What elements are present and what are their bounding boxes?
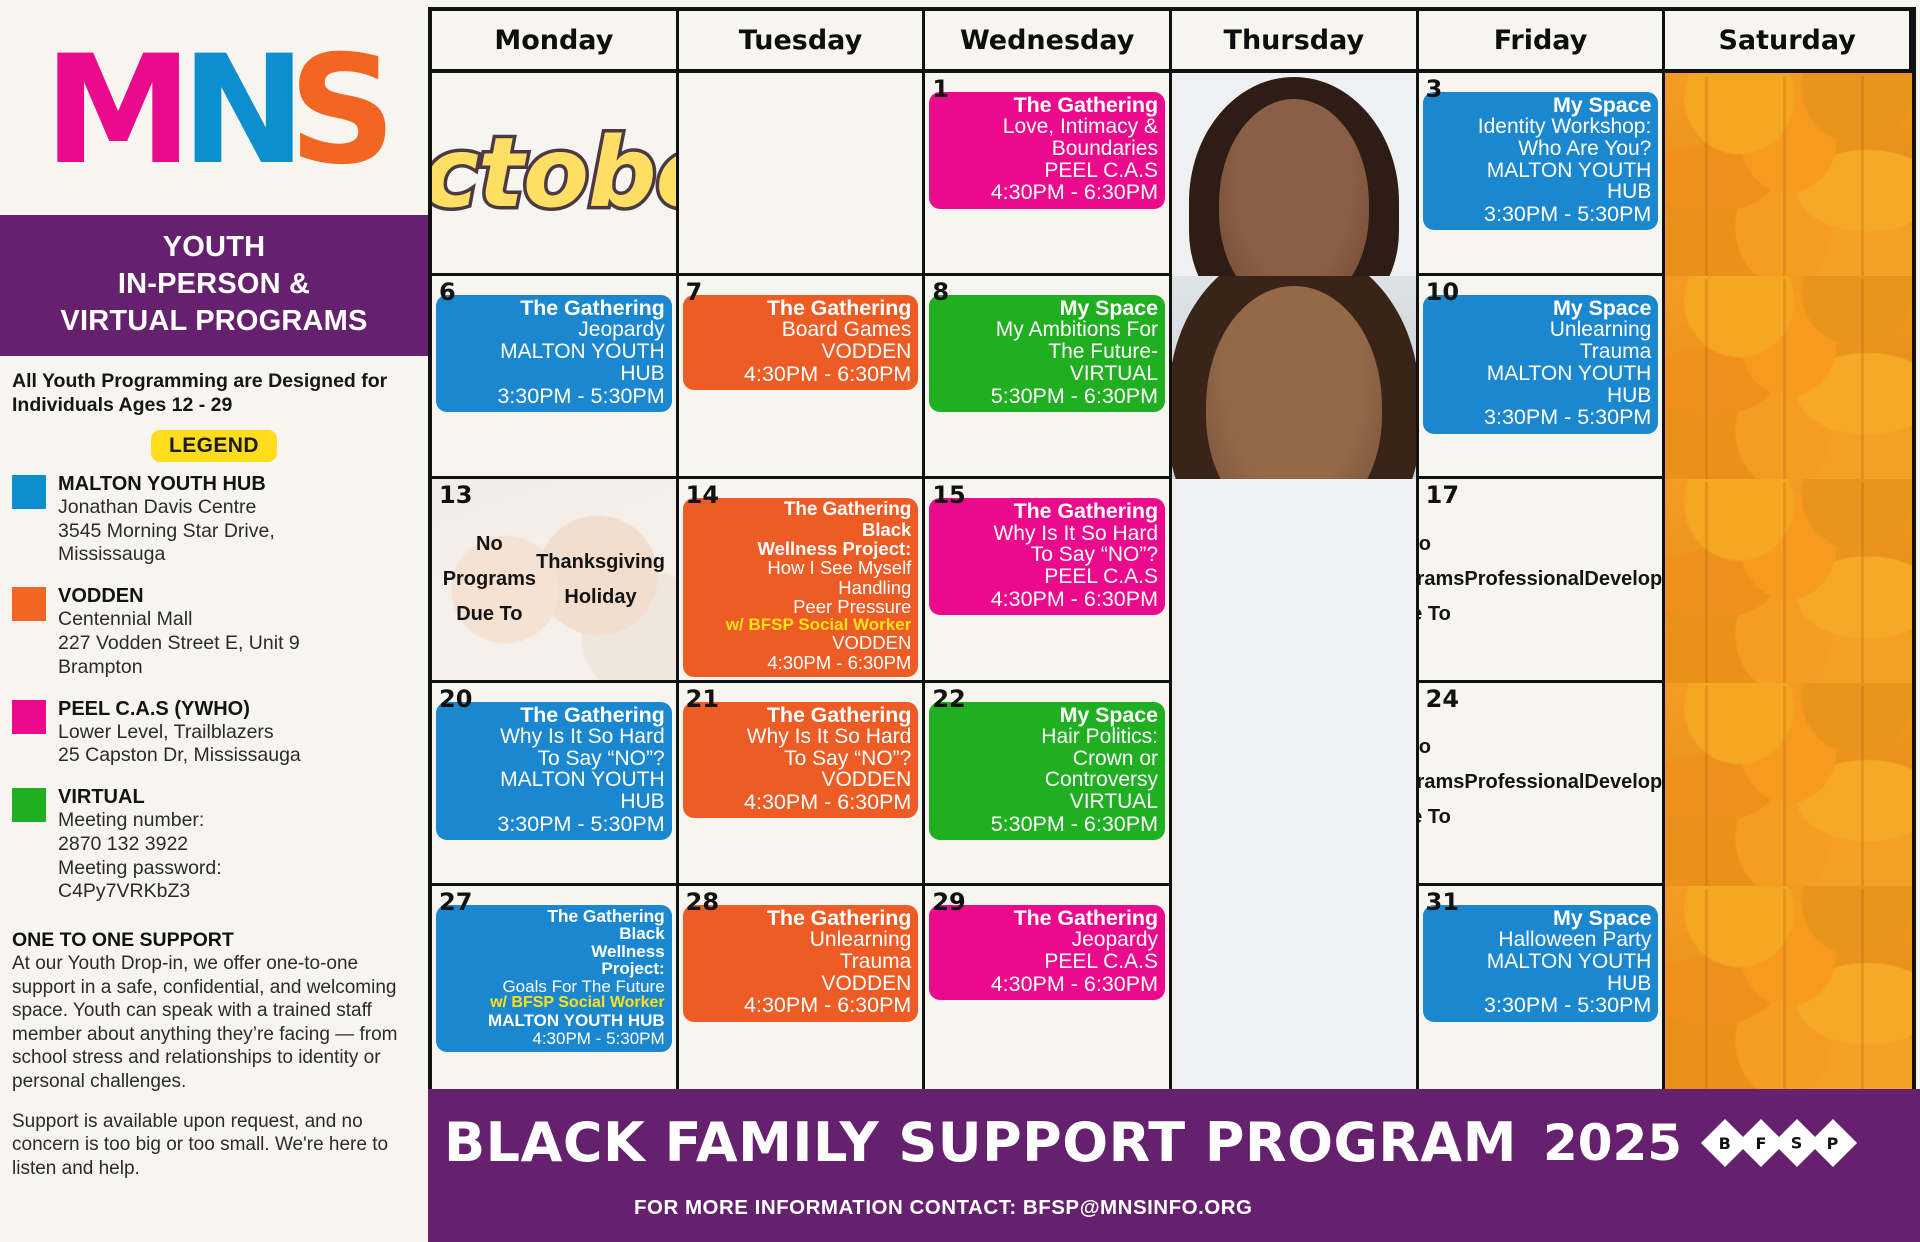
- event-card[interactable]: My SpaceHalloween PartyMALTON YOUTHHUB3:…: [1423, 905, 1659, 1022]
- day-number: 31: [1426, 888, 1459, 916]
- no-programs-line: No Programs Due To: [443, 527, 536, 632]
- pumpkin-rib: [1861, 889, 1864, 1089]
- event-detail-line: Handling: [690, 578, 912, 597]
- event-detail-line: My Ambitions For: [936, 319, 1158, 341]
- bfsp-diamond: P: [1809, 1119, 1857, 1167]
- no-programs-line: Professional: [1464, 562, 1584, 597]
- event-detail-line: MALTON YOUTH: [443, 769, 665, 791]
- event-detail-line: Why Is It So Hard: [690, 726, 912, 748]
- day-header-wednesday: Wednesday: [925, 11, 1172, 73]
- event-card[interactable]: My SpaceIdentity Workshop:Who Are You?MA…: [1423, 92, 1659, 230]
- day-number: 13: [439, 481, 472, 509]
- day-cell-6: 6The GatheringJeopardyMALTON YOUTHHUB3:3…: [432, 276, 679, 479]
- bfsp-diamond-letter: B: [1719, 1133, 1731, 1152]
- one-to-one-paragraph-2: Support is available upon request, and n…: [12, 1110, 416, 1181]
- day-header-label: Tuesday: [739, 25, 862, 56]
- legend-detail-line: Centennial Mall: [58, 608, 300, 632]
- event-card[interactable]: The GatheringLove, Intimacy &BoundariesP…: [929, 92, 1165, 209]
- event-time: 4:30PM - 6:30PM: [936, 973, 1158, 995]
- legend-item: VODDENCentennial Mall227 Vodden Street E…: [12, 584, 416, 679]
- event-time: 3:30PM - 5:30PM: [1430, 994, 1652, 1016]
- event-title: The Gathering: [690, 500, 912, 520]
- no-programs-line: Professional: [1464, 765, 1584, 800]
- day-cell-13: 13No Programs Due ToThanksgiving Holiday: [432, 479, 679, 682]
- event-detail-line: MALTON YOUTH: [443, 341, 665, 363]
- legend-text: PEEL C.A.S (YWHO)Lower Level, Trailblaze…: [58, 697, 301, 769]
- day-cell-20: 20The GatheringWhy Is It So HardTo Say “…: [432, 683, 679, 886]
- event-detail-line: The Future-: [936, 341, 1158, 363]
- pumpkin-rib: [1861, 686, 1864, 886]
- event-time: 3:30PM - 5:30PM: [1430, 203, 1652, 225]
- legend-location-name: VODDEN: [58, 584, 300, 608]
- day-header-thursday: Thursday: [1172, 11, 1419, 73]
- event-detail-line: Who Are You?: [1430, 138, 1652, 160]
- event-detail-line: Unlearning: [690, 929, 912, 951]
- event-title: The Gathering: [443, 297, 665, 319]
- event-detail-line: MALTON YOUTH: [1430, 363, 1652, 385]
- legend-location-name: VIRTUAL: [58, 785, 222, 809]
- one-to-one-paragraph-1: At our Youth Drop-in, we offer one-to-on…: [12, 952, 416, 1093]
- pumpkin-decoration-cell: [1665, 73, 1912, 276]
- day-cell-1: 1The GatheringLove, Intimacy &Boundaries…: [925, 73, 1172, 276]
- event-card[interactable]: The GatheringBoard GamesVODDEN4:30PM - 6…: [683, 295, 919, 390]
- day-number: 28: [686, 888, 719, 916]
- legend-label: LEGEND: [151, 430, 277, 462]
- pumpkin-rib: [1705, 686, 1708, 886]
- event-detail-line: Why Is It So Hard: [936, 523, 1158, 545]
- event-detail-line: PEEL C.A.S: [936, 951, 1158, 973]
- event-detail-line: Hair Politics:: [936, 726, 1158, 748]
- event-time: 4:30PM - 6:30PM: [690, 791, 912, 813]
- no-programs-line: No Programs Due To: [1419, 527, 1465, 632]
- event-location: VODDEN: [690, 633, 912, 652]
- day-number: 14: [686, 481, 719, 509]
- legend-detail-line: 25 Capston Dr, Mississauga: [58, 744, 301, 768]
- pumpkin-rib: [1783, 76, 1786, 276]
- event-time: 5:30PM - 6:30PM: [936, 813, 1158, 835]
- day-cell-10: 10My SpaceUnlearningTraumaMALTON YOUTHHU…: [1419, 276, 1666, 479]
- legend-detail-line: Mississauga: [58, 543, 275, 567]
- event-title: My Space: [1430, 297, 1652, 319]
- event-title: The Gathering: [936, 907, 1158, 929]
- event-detail-line: Jeopardy: [443, 319, 665, 341]
- event-card[interactable]: The GatheringUnlearningTraumaVODDEN4:30P…: [683, 905, 919, 1022]
- pumpkin-rib: [1783, 279, 1786, 479]
- event-highlight-note: w/ BFSP Social Worker: [690, 616, 912, 634]
- event-card[interactable]: The GatheringBlackWellness Project:How I…: [683, 498, 919, 676]
- day-header-label: Saturday: [1718, 25, 1855, 56]
- heading-line-1: YOUTH: [6, 229, 422, 266]
- event-time: 3:30PM - 5:30PM: [1430, 406, 1652, 428]
- event-time: 4:30PM - 5:30PM: [443, 1030, 665, 1048]
- day-header-friday: Friday: [1419, 11, 1666, 73]
- event-detail-line: Goals For The Future: [443, 978, 665, 996]
- day-cell-14: 14The GatheringBlackWellness Project:How…: [679, 479, 926, 682]
- pumpkin-rib: [1861, 76, 1864, 276]
- event-title: The Gathering: [443, 704, 665, 726]
- event-card[interactable]: The GatheringWhy Is It So HardTo Say “NO…: [436, 702, 672, 840]
- program-year: 2025: [1543, 1114, 1682, 1172]
- pumpkin-decoration-cell: [1665, 683, 1912, 886]
- event-detail-line: VODDEN: [690, 769, 912, 791]
- event-detail-line: MALTON YOUTH: [1430, 160, 1652, 182]
- day-number: 24: [1426, 685, 1459, 713]
- event-detail-line: VIRTUAL: [936, 791, 1158, 813]
- sidebar-heading: YOUTH IN-PERSON & VIRTUAL PROGRAMS: [0, 215, 428, 356]
- pumpkin-rib: [1705, 76, 1708, 276]
- legend-detail-line: 3545 Morning Star Drive,: [58, 520, 275, 544]
- event-detail-line: HUB: [443, 363, 665, 385]
- event-detail-line: Controversy: [936, 769, 1158, 791]
- event-title: The Gathering: [443, 907, 665, 925]
- day-cell-28: 28The GatheringUnlearningTraumaVODDEN4:3…: [679, 886, 926, 1089]
- legend-header: LEGEND: [0, 430, 428, 462]
- event-detail-line: Crown or: [936, 748, 1158, 770]
- calendar-poster: MNS YOUTH IN-PERSON & VIRTUAL PROGRAMS A…: [0, 0, 1920, 1242]
- event-detail-line: VODDEN: [690, 973, 912, 995]
- legend-item: PEEL C.A.S (YWHO)Lower Level, Trailblaze…: [12, 697, 416, 769]
- legend-detail-line: Jonathan Davis Centre: [58, 496, 275, 520]
- no-programs-notice: No Programs Due ToProfessionalDevelopmen…: [1423, 482, 1659, 676]
- day-cell-3: 3My SpaceIdentity Workshop:Who Are You?M…: [1419, 73, 1666, 276]
- pumpkin-rib: [1705, 482, 1708, 682]
- event-card[interactable]: My SpaceUnlearningTraumaMALTON YOUTHHUB3…: [1423, 295, 1659, 433]
- legend-text: MALTON YOUTH HUBJonathan Davis Centre354…: [58, 472, 275, 567]
- no-programs-notice: No Programs Due ToProfessionalDevelopmen…: [1423, 686, 1659, 880]
- heading-line-3: VIRTUAL PROGRAMS: [6, 303, 422, 340]
- day-number: 17: [1426, 481, 1459, 509]
- event-title: The Gathering: [936, 94, 1158, 116]
- pumpkin-decoration-cell: [1665, 276, 1912, 479]
- event-title: My Space: [1430, 907, 1652, 929]
- legend-color-swatch: [12, 475, 46, 509]
- event-title: The Gathering: [690, 704, 912, 726]
- legend-detail-line: Meeting password:: [58, 857, 222, 881]
- event-detail-line: To Say “NO”?: [443, 748, 665, 770]
- pumpkin-decoration-cell: [1665, 479, 1912, 682]
- event-time: 5:30PM - 6:30PM: [936, 385, 1158, 407]
- day-number: 20: [439, 685, 472, 713]
- legend-item: MALTON YOUTH HUBJonathan Davis Centre354…: [12, 472, 416, 567]
- legend-detail-line: 2870 132 3922: [58, 833, 222, 857]
- day-number: 3: [1426, 75, 1443, 103]
- event-title: The Gathering: [936, 500, 1158, 522]
- sidebar: MNS YOUTH IN-PERSON & VIRTUAL PROGRAMS A…: [0, 0, 428, 1242]
- age-range-note: All Youth Programming are Designed for I…: [0, 356, 428, 418]
- day-number: 8: [932, 278, 949, 306]
- event-detail-line: PEEL C.A.S: [936, 566, 1158, 588]
- pumpkin-rib: [1783, 686, 1786, 886]
- event-detail-line: VIRTUAL: [936, 363, 1158, 385]
- event-card[interactable]: The GatheringBlackWellnessProject:Goals …: [436, 905, 672, 1052]
- youth-photo-cell: [1172, 73, 1419, 276]
- pumpkin-rib: [1705, 889, 1708, 1089]
- event-card[interactable]: The GatheringWhy Is It So HardTo Say “NO…: [683, 702, 919, 819]
- no-programs-line: Development: [1584, 765, 1665, 800]
- event-detail-line: Boundaries: [936, 138, 1158, 160]
- event-detail-line: Halloween Party: [1430, 929, 1652, 951]
- day-header-label: Thursday: [1224, 25, 1365, 56]
- event-card[interactable]: My SpaceMy Ambitions ForThe Future-VIRTU…: [929, 295, 1165, 412]
- event-detail-line: To Say “NO”?: [690, 748, 912, 770]
- no-programs-line: No Programs Due To: [1419, 730, 1465, 835]
- day-cell-31: 31My SpaceHalloween PartyMALTON YOUTHHUB…: [1419, 886, 1666, 1089]
- day-cell-17: 17No Programs Due ToProfessionalDevelopm…: [1419, 479, 1666, 682]
- youth-photo-cell: [1172, 276, 1419, 479]
- event-detail-line: Unlearning: [1430, 319, 1652, 341]
- bottom-banner: BLACK FAMILY SUPPORT PROGRAM 2025 BFSP F…: [428, 1089, 1920, 1242]
- legend-detail-line: Lower Level, Trailblazers: [58, 721, 301, 745]
- event-subtitle-bold: Wellness Project:: [690, 539, 912, 558]
- event-card[interactable]: The GatheringWhy Is It So HardTo Say “NO…: [929, 498, 1165, 615]
- day-number: 6: [439, 278, 456, 306]
- event-time: 4:30PM - 6:30PM: [936, 181, 1158, 203]
- bfsp-diamond-letter: P: [1827, 1133, 1839, 1152]
- event-detail-line: Why Is It So Hard: [443, 726, 665, 748]
- month-title-cell: October: [432, 73, 679, 276]
- legend-detail-line: C4Py7VRKbZ3: [58, 880, 222, 904]
- event-subtitle-bold: Black: [443, 925, 665, 943]
- event-card[interactable]: The GatheringJeopardyPEEL C.A.S4:30PM - …: [929, 905, 1165, 1000]
- event-detail-line: Jeopardy: [936, 929, 1158, 951]
- pumpkin-rib: [1705, 279, 1708, 479]
- day-number: 7: [686, 278, 703, 306]
- no-programs-line: Development: [1584, 562, 1665, 597]
- event-detail-line: PEEL C.A.S: [936, 160, 1158, 182]
- one-to-one-body: At our Youth Drop-in, we offer one-to-on…: [0, 952, 428, 1196]
- heading-line-2: IN-PERSON &: [6, 266, 422, 303]
- day-cell-22: 22My SpaceHair Politics:Crown orControve…: [925, 683, 1172, 886]
- legend-color-swatch: [12, 700, 46, 734]
- no-programs-notice: No Programs Due ToThanksgiving Holiday: [436, 482, 672, 676]
- day-number: 15: [932, 481, 965, 509]
- calendar-area: MondayTuesdayWednesdayThursdayFridaySatu…: [428, 0, 1920, 1242]
- legend-color-swatch: [12, 788, 46, 822]
- calendar-grid: MondayTuesdayWednesdayThursdayFridaySatu…: [428, 7, 1916, 1089]
- event-title: My Space: [936, 704, 1158, 726]
- event-card[interactable]: The GatheringJeopardyMALTON YOUTHHUB3:30…: [436, 295, 672, 412]
- event-detail-line: Peer Pressure: [690, 597, 912, 616]
- day-number: 27: [439, 888, 472, 916]
- pumpkin-rib: [1783, 482, 1786, 682]
- day-number: 21: [686, 685, 719, 713]
- day-cell-27: 27The GatheringBlackWellnessProject:Goal…: [432, 886, 679, 1089]
- event-detail-line: HUB: [1430, 181, 1652, 203]
- event-detail-line: Trauma: [1430, 341, 1652, 363]
- legend-location-name: PEEL C.A.S (YWHO): [58, 697, 301, 721]
- legend-detail-line: 227 Vodden Street E, Unit 9: [58, 632, 300, 656]
- logo-letter-s: S: [288, 24, 384, 198]
- event-detail-line: HUB: [1430, 385, 1652, 407]
- day-number: 22: [932, 685, 965, 713]
- event-detail-line: How I See Myself: [690, 558, 912, 577]
- event-title: My Space: [1430, 94, 1652, 116]
- event-subtitle-bold: Wellness: [443, 943, 665, 961]
- event-title: The Gathering: [690, 907, 912, 929]
- day-cell-7: 7The GatheringBoard GamesVODDEN4:30PM - …: [679, 276, 926, 479]
- event-subtitle-bold: Black: [690, 520, 912, 539]
- event-time: 3:30PM - 5:30PM: [443, 813, 665, 835]
- event-time: 4:30PM - 6:30PM: [690, 994, 912, 1016]
- day-cell-21: 21The GatheringWhy Is It So HardTo Say “…: [679, 683, 926, 886]
- event-location: MALTON YOUTH HUB: [443, 1012, 665, 1030]
- bfsp-logo: BFSP: [1708, 1126, 1850, 1160]
- youth-photo-cell: [1172, 479, 1419, 682]
- event-highlight-note: w/ BFSP Social Worker: [443, 995, 665, 1012]
- legend-text: VIRTUALMeeting number:2870 132 3922Meeti…: [58, 785, 222, 904]
- day-header-label: Monday: [494, 25, 613, 56]
- legend-detail-line: Meeting number:: [58, 809, 222, 833]
- legend-color-swatch: [12, 587, 46, 621]
- youth-photo-cell: [1172, 886, 1419, 1089]
- event-subtitle-bold: Project:: [443, 960, 665, 978]
- day-header-label: Wednesday: [960, 25, 1134, 56]
- month-title: October: [432, 125, 679, 221]
- one-to-one-title: ONE TO ONE SUPPORT: [0, 921, 428, 952]
- event-detail-line: MALTON YOUTH: [1430, 951, 1652, 973]
- legend-list: MALTON YOUTH HUBJonathan Davis Centre354…: [0, 472, 428, 921]
- day-cell-29: 29The GatheringJeopardyPEEL C.A.S4:30PM …: [925, 886, 1172, 1089]
- event-detail-line: Trauma: [690, 951, 912, 973]
- contact-info: FOR MORE INFORMATION CONTACT: BFSP@MNSIN…: [444, 1196, 1920, 1220]
- legend-location-name: MALTON YOUTH HUB: [58, 472, 275, 496]
- legend-detail-line: Brampton: [58, 656, 300, 680]
- logo-letter-n: N: [181, 24, 295, 198]
- event-time: 4:30PM - 6:30PM: [690, 363, 912, 385]
- day-header-tuesday: Tuesday: [679, 11, 926, 73]
- day-cell-24: 24No Programs Due ToProfessionalDevelopm…: [1419, 683, 1666, 886]
- event-title: My Space: [936, 297, 1158, 319]
- mns-logo: MNS: [0, 0, 428, 215]
- day-cell-8: 8My SpaceMy Ambitions ForThe Future-VIRT…: [925, 276, 1172, 479]
- pumpkin-rib: [1861, 482, 1864, 682]
- day-number: 1: [932, 75, 949, 103]
- youth-photo-cell: [1172, 683, 1419, 886]
- event-detail-line: Board Games: [690, 319, 912, 341]
- event-title: The Gathering: [690, 297, 912, 319]
- event-time: 3:30PM - 5:30PM: [443, 385, 665, 407]
- legend-item: VIRTUALMeeting number:2870 132 3922Meeti…: [12, 785, 416, 904]
- no-programs-line: Thanksgiving Holiday: [536, 545, 665, 615]
- day-cell-15: 15The GatheringWhy Is It So HardTo Say “…: [925, 479, 1172, 682]
- event-detail-line: VODDEN: [690, 341, 912, 363]
- day-number: 29: [932, 888, 965, 916]
- day-header-saturday: Saturday: [1665, 11, 1912, 73]
- bfsp-diamond-letter: S: [1791, 1133, 1803, 1152]
- program-title: BLACK FAMILY SUPPORT PROGRAM: [444, 1111, 1517, 1174]
- event-detail-line: HUB: [1430, 973, 1652, 995]
- event-card[interactable]: My SpaceHair Politics:Crown orControvers…: [929, 702, 1165, 840]
- event-detail-line: To Say “NO”?: [936, 544, 1158, 566]
- bfsp-diamond-letter: F: [1756, 1133, 1767, 1152]
- day-header-label: Friday: [1494, 25, 1588, 56]
- pumpkin-rib: [1861, 279, 1864, 479]
- day-header-monday: Monday: [432, 11, 679, 73]
- empty-day-cell: [679, 73, 926, 276]
- event-time: 4:30PM - 6:30PM: [690, 653, 912, 672]
- event-detail-line: Love, Intimacy &: [936, 116, 1158, 138]
- logo-letter-m: M: [44, 24, 181, 198]
- pumpkin-decoration-cell: [1665, 886, 1912, 1089]
- event-time: 4:30PM - 6:30PM: [936, 588, 1158, 610]
- day-number: 10: [1426, 278, 1459, 306]
- event-detail-line: HUB: [443, 791, 665, 813]
- pumpkin-rib: [1783, 889, 1786, 1089]
- legend-text: VODDENCentennial Mall227 Vodden Street E…: [58, 584, 300, 679]
- event-detail-line: Identity Workshop:: [1430, 116, 1652, 138]
